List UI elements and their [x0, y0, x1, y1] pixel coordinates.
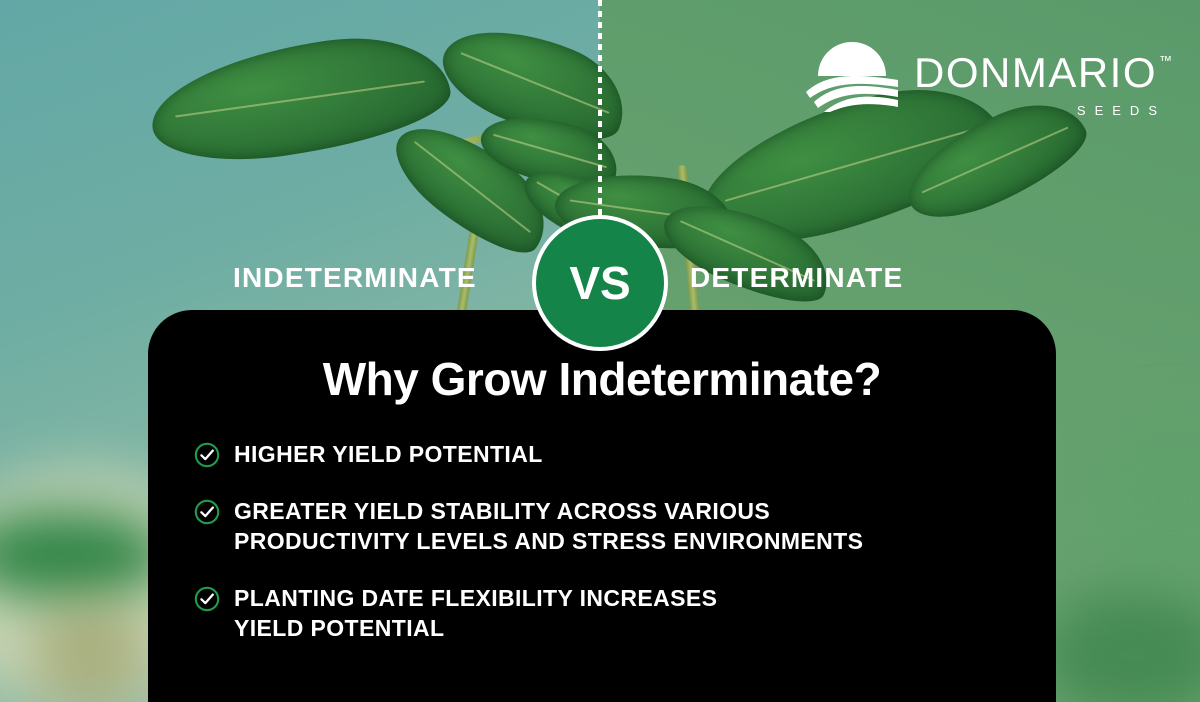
brand-tagline: SEEDS [914, 103, 1170, 118]
benefit-text: HIGHER YIELD POTENTIAL [234, 440, 543, 469]
brand-wordmark: DONMARIO™ SEEDS [914, 40, 1170, 118]
brand-logo: DONMARIO™ SEEDS [804, 40, 1170, 118]
trademark-symbol: ™ [1159, 53, 1172, 68]
sunrise-over-field-icon [804, 40, 900, 112]
benefit-item: GREATER YIELD STABILITY ACROSS VARIOUS P… [194, 497, 1010, 556]
brand-name: DONMARIO [914, 52, 1157, 94]
comparison-label-determinate: DETERMINATE [690, 262, 903, 294]
versus-label: VS [569, 260, 630, 306]
benefit-item: PLANTING DATE FLEXIBILITY INCREASES YIEL… [194, 584, 1010, 643]
check-circle-icon [194, 586, 220, 612]
check-circle-icon [194, 499, 220, 525]
infographic-poster: DONMARIO™ SEEDS INDETERMINATE VS DETERMI… [0, 0, 1200, 702]
benefit-text: GREATER YIELD STABILITY ACROSS VARIOUS P… [234, 497, 863, 556]
page-title: Why Grow Indeterminate? [194, 352, 1010, 406]
comparison-label-indeterminate: INDETERMINATE [233, 262, 477, 294]
versus-badge: VS [532, 215, 668, 351]
benefit-text: PLANTING DATE FLEXIBILITY INCREASES YIEL… [234, 584, 717, 643]
check-circle-icon [194, 442, 220, 468]
benefit-item: HIGHER YIELD POTENTIAL [194, 440, 1010, 469]
benefits-panel: Why Grow Indeterminate? HIGHER YIELD POT… [148, 310, 1056, 702]
